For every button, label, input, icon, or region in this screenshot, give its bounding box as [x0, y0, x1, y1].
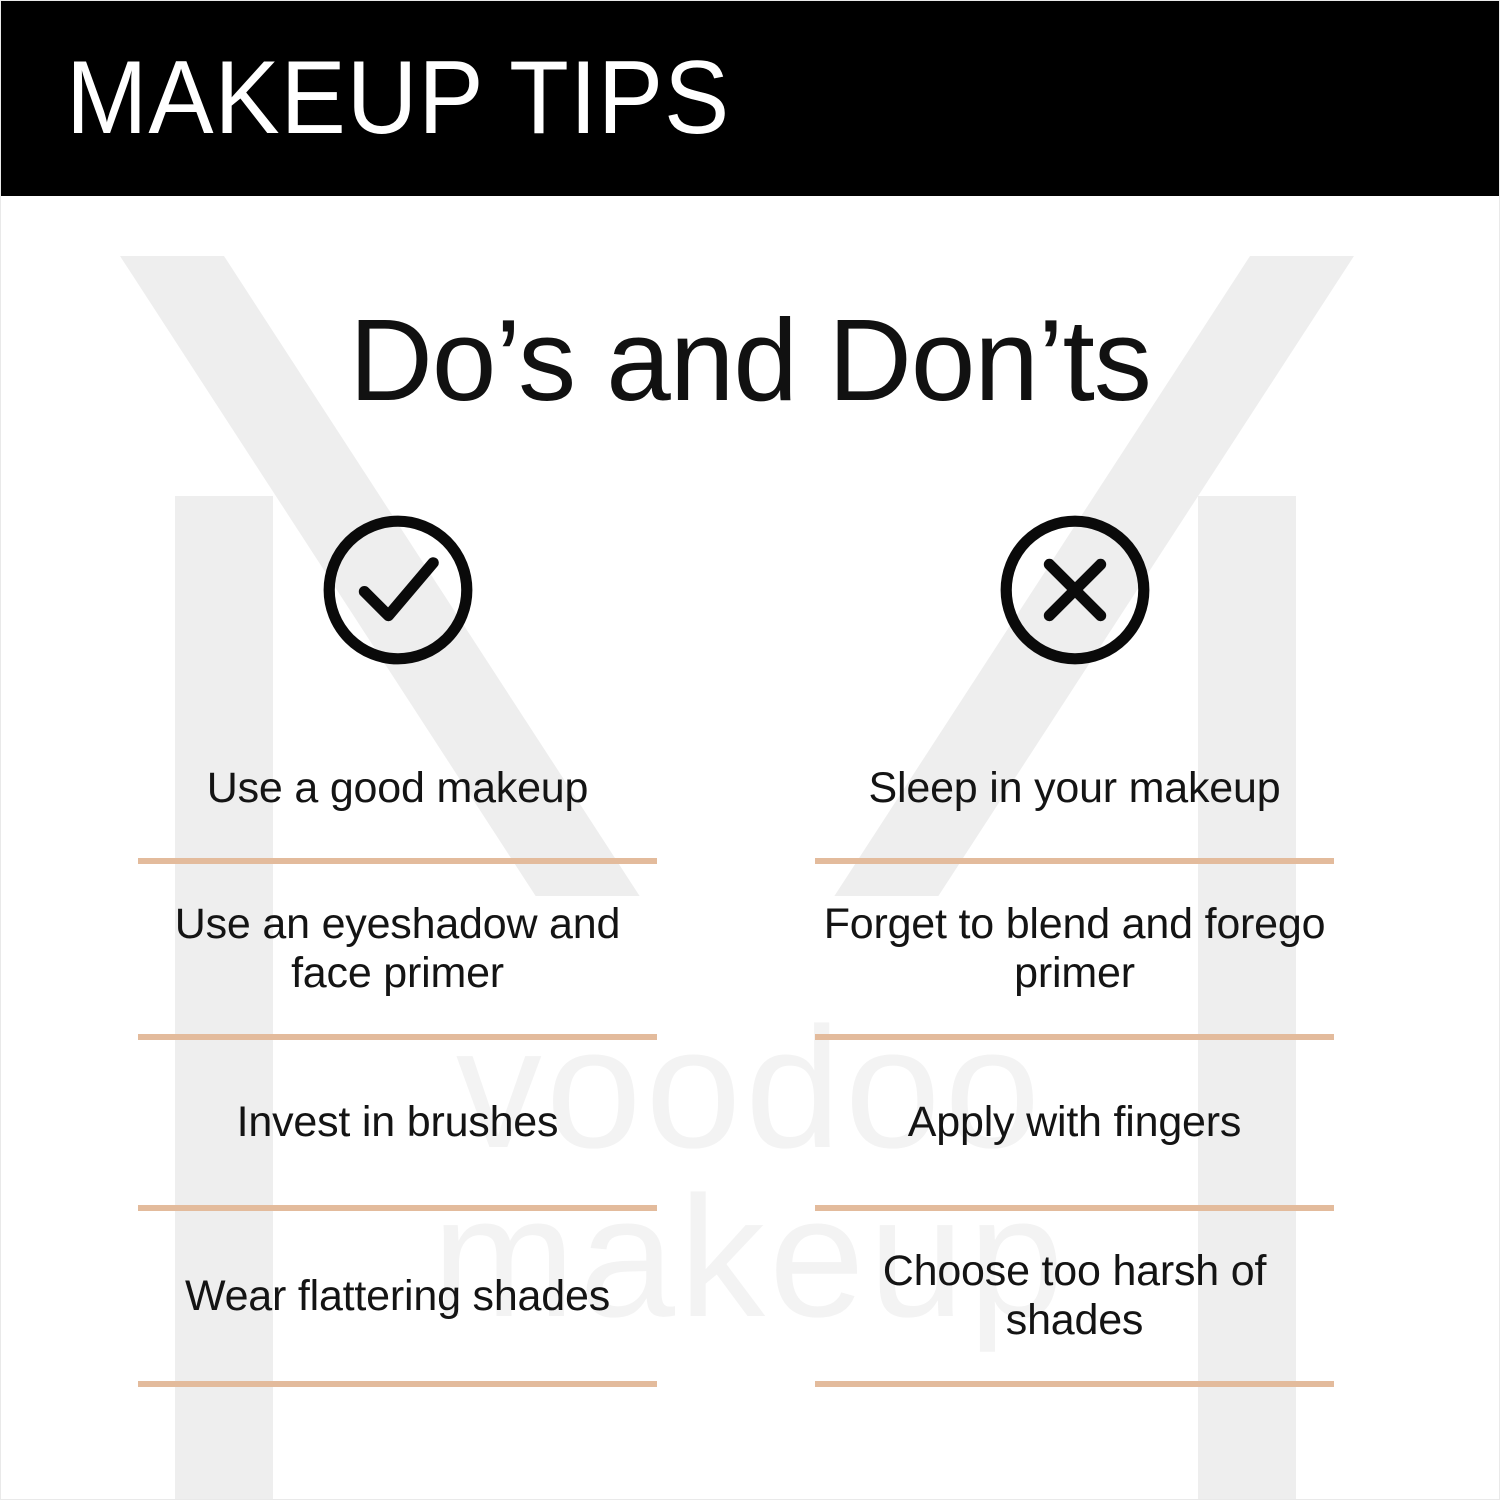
dos-list: Use a good makeup Use an eyeshadow and f…	[138, 718, 657, 1387]
row-divider	[138, 1381, 657, 1387]
list-item: Use an eyeshadow and face primer	[138, 864, 657, 1034]
x-circle-icon	[995, 510, 1155, 670]
list-item: Forget to blend and forego primer	[815, 864, 1334, 1034]
list-item: Apply with fingers	[815, 1040, 1334, 1205]
list-item: Wear flattering shades	[138, 1211, 657, 1381]
tip-text: Use a good makeup	[203, 764, 592, 813]
section-heading: Do’s and Don’ts	[0, 302, 1500, 418]
infographic-canvas: voodoo makeup MAKEUP TIPS Do’s and Don’t…	[0, 0, 1500, 1500]
page-title: MAKEUP TIPS	[66, 44, 730, 153]
tip-text: Sleep in your makeup	[865, 764, 1285, 813]
check-circle-icon	[318, 510, 478, 670]
list-item: Sleep in your makeup	[815, 718, 1334, 858]
list-item: Invest in brushes	[138, 1040, 657, 1205]
list-item: Choose too harsh of shades	[815, 1211, 1334, 1381]
content-area: Do’s and Don’ts Use a good makeup Use an…	[0, 196, 1500, 1500]
tip-text: Invest in brushes	[233, 1098, 563, 1147]
tip-text: Forget to blend and forego primer	[815, 900, 1334, 997]
row-divider	[815, 1381, 1334, 1387]
donts-list: Sleep in your makeup Forget to blend and…	[815, 718, 1334, 1387]
header-banner: MAKEUP TIPS	[0, 0, 1500, 196]
tip-text: Apply with fingers	[904, 1098, 1245, 1147]
tip-text: Choose too harsh of shades	[815, 1247, 1334, 1344]
tip-text: Wear flattering shades	[181, 1272, 614, 1321]
tip-text: Use an eyeshadow and face primer	[138, 900, 657, 997]
list-item: Use a good makeup	[138, 718, 657, 858]
